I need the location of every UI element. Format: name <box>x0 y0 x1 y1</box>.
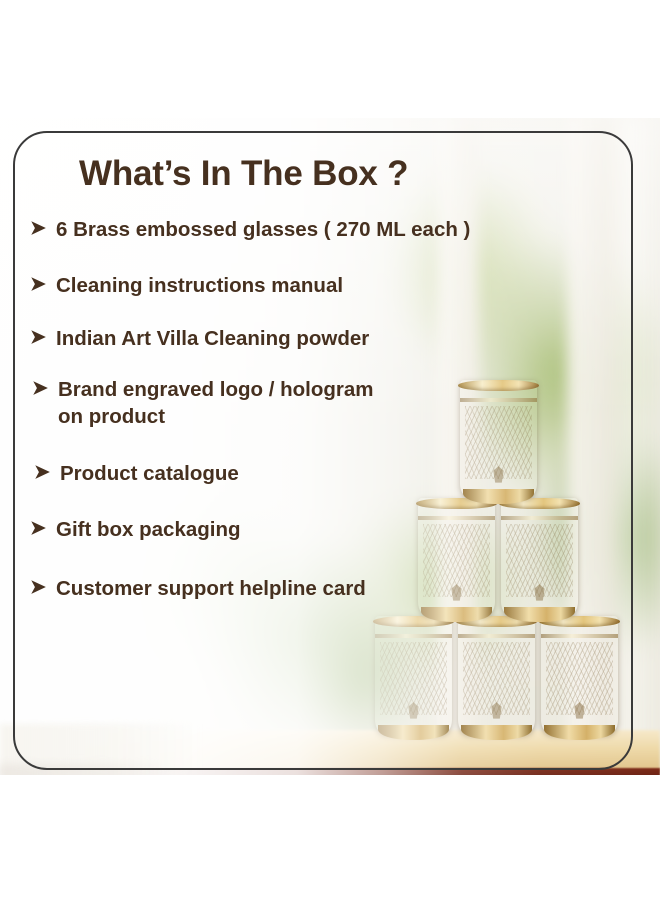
arrow-bullet-icon: ➤ <box>30 575 56 601</box>
page-title: What’s In The Box ? <box>79 154 408 194</box>
list-item-cleaning-powder: ➤ Indian Art Villa Cleaning powder <box>30 325 520 352</box>
list-item-product-catalogue: ➤ Product catalogue <box>34 460 520 487</box>
whats-in-the-box-list: ➤ 6 Brass embossed glasses ( 270 ML each… <box>0 216 520 602</box>
arrow-bullet-icon: ➤ <box>32 376 58 402</box>
list-item-helpline-card: ➤ Customer support helpline card <box>30 575 520 602</box>
arrow-bullet-icon: ➤ <box>30 272 56 298</box>
arrow-bullet-icon: ➤ <box>30 516 56 542</box>
list-item-label: Gift box packaging <box>56 516 520 543</box>
list-item-label: Customer support helpline card <box>56 575 520 602</box>
arrow-bullet-icon: ➤ <box>30 216 56 242</box>
arrow-bullet-icon: ➤ <box>34 460 60 486</box>
infographic-canvas: What’s In The Box ? ➤ 6 Brass embossed g… <box>0 0 660 900</box>
list-item-cleaning-manual: ➤ Cleaning instructions manual <box>30 272 520 299</box>
list-item-label: 6 Brass embossed glasses ( 270 ML each ) <box>56 216 520 243</box>
list-item-brass-glasses: ➤ 6 Brass embossed glasses ( 270 ML each… <box>30 216 520 243</box>
arrow-bullet-icon: ➤ <box>30 325 56 351</box>
list-item-gift-box: ➤ Gift box packaging <box>30 516 520 543</box>
list-item-label: Brand engraved logo / hologram on produc… <box>58 376 520 430</box>
list-item-label: Indian Art Villa Cleaning powder <box>56 325 520 352</box>
list-item-label: Product catalogue <box>60 460 520 487</box>
list-item-brand-hologram: ➤ Brand engraved logo / hologram on prod… <box>32 376 520 430</box>
list-item-label: Cleaning instructions manual <box>56 272 520 299</box>
content-layer: What’s In The Box ? ➤ 6 Brass embossed g… <box>0 118 660 775</box>
